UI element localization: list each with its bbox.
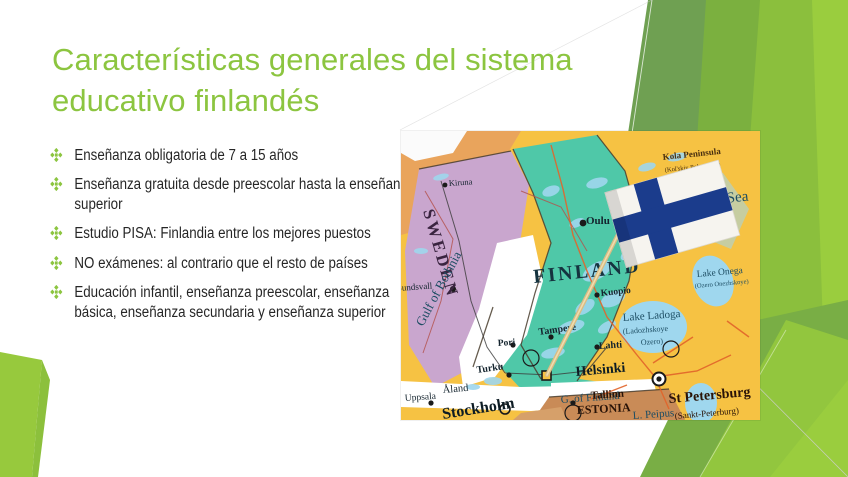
list-item-label: NO exámenes: al contrario que el resto d…: [74, 255, 367, 272]
list-item: Enseñanza gratuita desde preescolar hast…: [46, 175, 424, 215]
list-item: Estudio PISA: Finlandia entre los mejore…: [46, 224, 424, 244]
svg-text:Ozero): Ozero): [641, 336, 664, 347]
map-of-finland-with-finnish-flag: FINLAND SWEDEN Oulu Kuopio Tampere Lahti…: [401, 131, 760, 420]
bullet-list: Enseñanza obligatoria de 7 a 15 años Ens…: [46, 146, 396, 332]
svg-text:L. Peipus: L. Peipus: [632, 407, 674, 420]
list-item-label: Enseñanza gratuita desde preescolar hast…: [74, 176, 414, 213]
diamond-cluster-bullet-icon: [50, 148, 62, 162]
list-item: Enseñanza obligatoria de 7 a 15 años: [46, 146, 424, 166]
svg-text:Pori: Pori: [498, 338, 516, 349]
deco-shape-left-wedge-tail: [32, 360, 50, 477]
presentation-slide: Características generales del sistema ed…: [0, 0, 848, 477]
list-item-label: Enseñanza obligatoria de 7 a 15 años: [74, 147, 298, 164]
svg-text:Kiruna: Kiruna: [448, 176, 472, 188]
svg-text:ESTONIA: ESTONIA: [576, 400, 631, 417]
diamond-cluster-bullet-icon: [50, 177, 62, 191]
diamond-cluster-bullet-icon: [50, 256, 62, 270]
list-item: Educación infantil, enseñanza preescolar…: [46, 283, 424, 323]
svg-text:Åland: Åland: [442, 382, 469, 396]
diamond-cluster-bullet-icon: [50, 285, 62, 299]
diamond-cluster-bullet-icon: [50, 226, 62, 240]
list-item-label: Educación infantil, enseñanza preescolar…: [74, 284, 389, 321]
svg-text:Tallinn: Tallinn: [590, 388, 624, 402]
svg-text:Lahti: Lahti: [598, 339, 622, 352]
page-title: Características generales del sistema ed…: [52, 40, 642, 122]
list-item: NO exámenes: al contrario que el resto d…: [46, 254, 424, 274]
deco-shape-right-bright: [812, 0, 848, 477]
deco-shape-left-wedge: [0, 352, 42, 477]
svg-text:Oulu: Oulu: [586, 215, 610, 227]
deco-shape-lower-right-c: [770, 380, 848, 477]
list-item-label: Estudio PISA: Finlandia entre los mejore…: [74, 225, 370, 242]
